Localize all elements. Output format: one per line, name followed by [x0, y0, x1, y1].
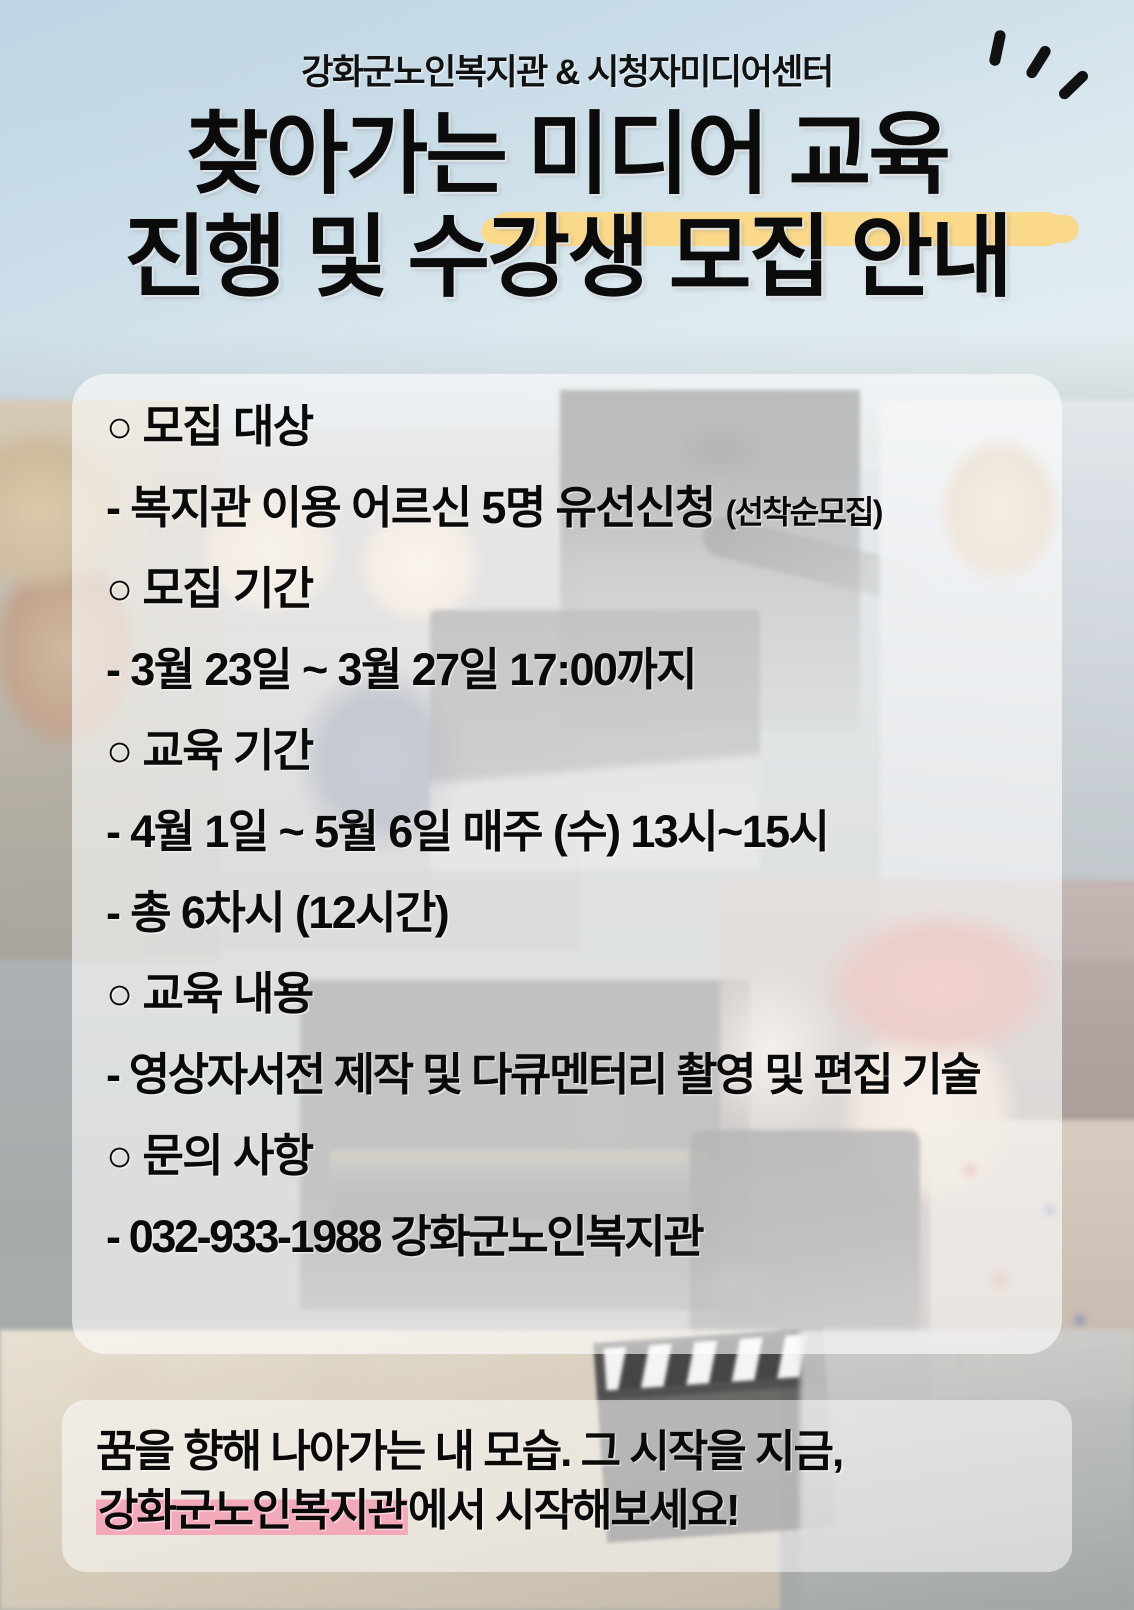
page-title-line1: 찾아가는 미디어 교육 [0, 107, 1134, 204]
section-item-education-sessions: - 총 6차시 (12시간) [106, 890, 1028, 935]
info-panel: ○ 모집 대상 - 복지관 이용 어르신 5명 유선신청 (선착순모집) ○ 모… [72, 374, 1062, 1354]
footer-slogan-rest: 에서 시작해보세요! [408, 1486, 739, 1535]
footer-panel: 꿈을 향해 나아가는 내 모습. 그 시작을 지금, 강화군노인복지관에서 시작… [62, 1400, 1072, 1572]
section-item-education-content: - 영상자서전 제작 및 다큐멘터리 촬영 및 편집 기술 [106, 1052, 1028, 1097]
page-title-line2: 진행 및 수강생 모집 안내 [0, 210, 1134, 307]
poster-root: 강화군노인복지관 & 시청자미디어센터 찾아가는 미디어 교육 진행 및 수강생… [0, 0, 1134, 1610]
footer-highlight-organization: 강화군노인복지관 [96, 1486, 408, 1535]
organization-line: 강화군노인복지관 & 시청자미디어센터 [0, 0, 1134, 95]
recruit-target-text: - 복지관 이용 어르신 5명 유선신청 [106, 482, 715, 533]
section-item-recruit-period: - 3월 23일 ~ 3월 27일 17:00까지 [106, 647, 1028, 692]
section-heading-education-content: ○ 교육 내용 [106, 971, 1028, 1016]
footer-slogan-line2: 강화군노인복지관에서 시작해보세요! [96, 1481, 1038, 1540]
section-item-education-period: - 4월 1일 ~ 5월 6일 매주 (수) 13시~15시 [106, 809, 1028, 854]
section-heading-recruit-target: ○ 모집 대상 [106, 404, 1028, 449]
section-heading-inquiry: ○ 문의 사항 [106, 1133, 1028, 1178]
poster-header: 강화군노인복지관 & 시청자미디어센터 찾아가는 미디어 교육 진행 및 수강생… [0, 0, 1134, 307]
section-item-recruit-target: - 복지관 이용 어르신 5명 유선신청 (선착순모집) [106, 485, 1028, 530]
footer-slogan-line1: 꿈을 향해 나아가는 내 모습. 그 시작을 지금, [96, 1422, 1038, 1481]
section-item-inquiry-phone: - 032-933-1988 강화군노인복지관 [106, 1214, 1028, 1259]
section-heading-recruit-period: ○ 모집 기간 [106, 566, 1028, 611]
recruit-target-note: (선착순모집) [726, 494, 882, 530]
section-heading-education-period: ○ 교육 기간 [106, 728, 1028, 773]
